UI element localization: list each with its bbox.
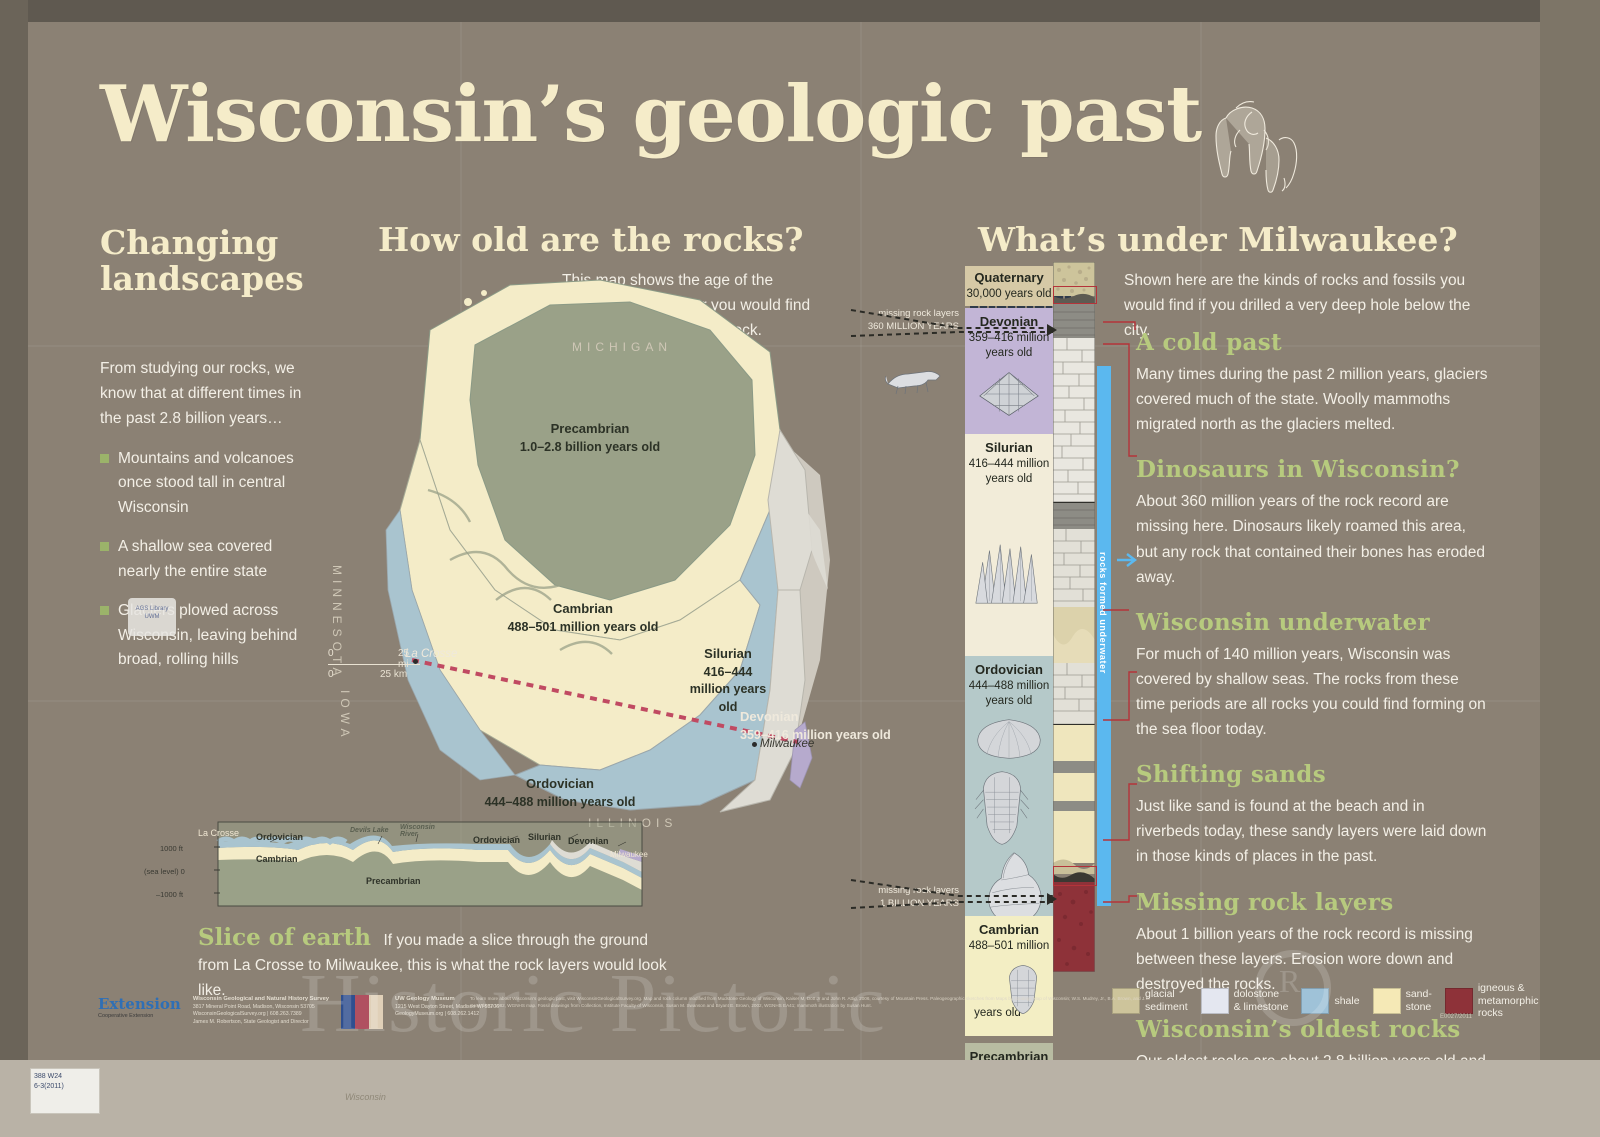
scale-km-max: 25 km: [380, 669, 407, 680]
legend-swatch: [1201, 988, 1229, 1014]
credits-block: Extension Cooperative Extension Wisconsi…: [98, 995, 499, 1029]
map-label-ordovician: Ordovician 444–488 million years old: [460, 775, 660, 810]
legend-swatch: [1373, 988, 1401, 1014]
bullet-text: A shallow sea covered nearly the entire …: [118, 535, 310, 584]
stamp-line-1: 388 W24: [34, 1073, 62, 1080]
map-unit-age: 1.0–2.8 billion years old: [520, 440, 660, 454]
survey-credit: Wisconsin Geological and Natural History…: [193, 995, 329, 1026]
scan-edge-right: [1540, 0, 1600, 1137]
woolly-mammoth-illustration: [1196, 78, 1316, 198]
map-label-silurian: Silurian 416–444 million years old: [682, 645, 774, 716]
bullet-square-icon: [100, 606, 109, 615]
state-label-iowa: IOWA: [338, 690, 352, 742]
missing-layers-pointer-upper: [847, 302, 1057, 342]
section-dinosaurs-in-wisconsin: Dinosaurs in Wisconsin? About 360 millio…: [1136, 456, 1488, 589]
fossil-coral-devonian-icon: [970, 366, 1048, 420]
xsec-axis-1000ft: 1000 ft: [160, 844, 183, 853]
geology-museum-logo: [341, 995, 383, 1029]
scan-edge-left: [0, 0, 28, 1137]
xsec-label-milwaukee: Milwaukee: [610, 850, 648, 859]
missing-layers-pointer-lower: [847, 876, 1057, 916]
section-wisconsin-underwater: Wisconsin underwater For much of 140 mil…: [1136, 609, 1488, 742]
xsec-axis-sealevel: (sea level) 0: [144, 867, 185, 876]
slice-of-earth-caption: Slice of earth If you made a slice throu…: [198, 924, 678, 1003]
xsec-axis-minus1000ft: –1000 ft: [156, 890, 183, 899]
cross-section-diagram: 1000 ft (sea level) 0 –1000 ft La Crosse…: [178, 818, 648, 913]
xsec-label-ordovician-east: Ordovician: [473, 835, 520, 845]
xsec-label-wisconsin-river: Wisconsin River: [400, 824, 438, 838]
long-credit-text: To learn more about Wisconsin’s geologic…: [470, 996, 1170, 1010]
strat-unit-age: 30,000 years old: [966, 288, 1051, 300]
section-body: For much of 140 million years, Wisconsin…: [1136, 642, 1488, 742]
strat-unit-quaternary: Quaternary 30,000 years old: [965, 266, 1053, 306]
bullet-square-icon: [100, 454, 109, 463]
rock-type-legend: glacial sediment dolostone & limestone s…: [1112, 982, 1552, 1020]
bullet-text: Mountains and volcanoes once stood tall …: [118, 447, 310, 520]
map-unit-name: Ordovician: [526, 776, 594, 791]
map-unit-age: 416–444 million years old: [690, 665, 766, 715]
library-sticker: AGS Library UWM: [128, 598, 176, 636]
strat-unit-name: Ordovician: [965, 662, 1053, 678]
xsec-label-la-crosse: La Crosse: [198, 828, 239, 838]
strat-unit-cambrian: Cambrian 488–501 million years old: [965, 916, 1053, 1036]
xsec-label-ordovician-west: Ordovician: [256, 832, 303, 842]
legend-swatch: [1445, 988, 1473, 1014]
map-label-cambrian: Cambrian 488–501 million years old: [488, 600, 678, 635]
xsec-label-silurian: Silurian: [528, 832, 561, 842]
how-old-heading: How old are the rocks?: [378, 222, 803, 258]
fossil-coral-silurian-icon: [970, 534, 1048, 608]
strat-unit-silurian: Silurian 416–444 million years old: [965, 434, 1053, 656]
map-unit-name: Devonian: [740, 709, 799, 724]
strat-unit-name: Quaternary: [965, 270, 1053, 286]
section-shifting-sands: Shifting sands Just like sand is found a…: [1136, 761, 1488, 869]
uw-extension-logo: Extension Cooperative Extension: [98, 995, 181, 1019]
changing-landscapes-heading-1: Changing: [100, 223, 278, 262]
library-sticker-text: AGS Library UWM: [136, 606, 169, 620]
map-scale-bar: 0 25 mi 0 25 km: [328, 648, 420, 681]
scan-edge-top: [0, 0, 1600, 22]
slice-of-earth-heading: Slice of earth: [198, 924, 371, 951]
city-dot-milwaukee: [752, 742, 757, 747]
state-label-michigan: MICHIGAN: [572, 340, 672, 354]
page-title: Wisconsin’s geologic past: [100, 78, 1201, 152]
list-item: A shallow sea covered nearly the entire …: [100, 535, 310, 584]
pencil-annotation: Wisconsin: [345, 1092, 386, 1102]
section-body: Just like sand is found at the beach and…: [1136, 794, 1488, 869]
legend-label: sand- stone: [1406, 988, 1432, 1013]
stamp-line-2: 6-3(2011): [34, 1083, 64, 1090]
section-heading: Dinosaurs in Wisconsin?: [1136, 456, 1488, 483]
city-label-milwaukee: Milwaukee: [760, 738, 814, 750]
strat-unit-age: 416–444 million years old: [969, 458, 1050, 484]
xsec-label-cambrian: Cambrian: [256, 854, 298, 864]
dinosaur-illustration: [884, 362, 944, 396]
xsec-label-devonian: Devonian: [568, 836, 609, 846]
section-heading: A cold past: [1136, 329, 1488, 356]
legend-item-sandstone: sand- stone: [1373, 988, 1432, 1014]
watermark-registered-icon: [1255, 950, 1331, 1026]
map-unit-name: Silurian: [704, 646, 752, 661]
changing-landscapes-intro: From studying our rocks, we know that at…: [100, 356, 310, 431]
changing-landscapes-heading-2: landscapes: [100, 259, 304, 298]
scale-km-zero: 0: [328, 669, 334, 680]
map-label-precambrian: Precambrian 1.0–2.8 billion years old: [500, 420, 680, 455]
fossil-trilobite-icon: [974, 768, 1030, 848]
fossil-brachiopod-icon: [972, 716, 1046, 762]
section-body: Many times during the past 2 million yea…: [1136, 362, 1488, 437]
section-a-cold-past: A cold past Many times during the past 2…: [1136, 329, 1488, 437]
scan-edge-bottom: [0, 1060, 1600, 1137]
section-heading: Wisconsin underwater: [1136, 609, 1488, 636]
poster-canvas: Wisconsin’s geologic past Changing lands…: [0, 0, 1600, 1137]
map-unit-age: 488–501 million years old: [508, 620, 659, 634]
document-number: E0027/2011: [1440, 1014, 1472, 1020]
strat-unit-name: Silurian: [965, 440, 1053, 456]
map-unit-name: Precambrian: [551, 421, 630, 436]
legend-label: igneous & metamorphic rocks: [1478, 982, 1552, 1020]
list-item: Mountains and volcanoes once stood tall …: [100, 447, 310, 520]
section-body: About 360 million years of the rock reco…: [1136, 489, 1488, 589]
strat-unit-age: 444–488 million years old: [969, 680, 1050, 706]
strat-unit-name: Cambrian: [965, 922, 1053, 938]
legend-label: shale: [1334, 995, 1359, 1008]
xsec-label-devils-lake: Devils Lake: [350, 827, 389, 834]
library-call-number-stamp: 388 W24 6-3(2011): [30, 1068, 100, 1114]
map-unit-name: Cambrian: [553, 601, 613, 616]
bullet-square-icon: [100, 542, 109, 551]
xsec-label-precambrian: Precambrian: [366, 876, 421, 886]
section-heading: Shifting sands: [1136, 761, 1488, 788]
map-unit-age: 444–488 million years old: [485, 795, 636, 809]
scale-mi-zero: 0: [328, 648, 334, 659]
section-heading: Missing rock layers: [1136, 889, 1488, 916]
